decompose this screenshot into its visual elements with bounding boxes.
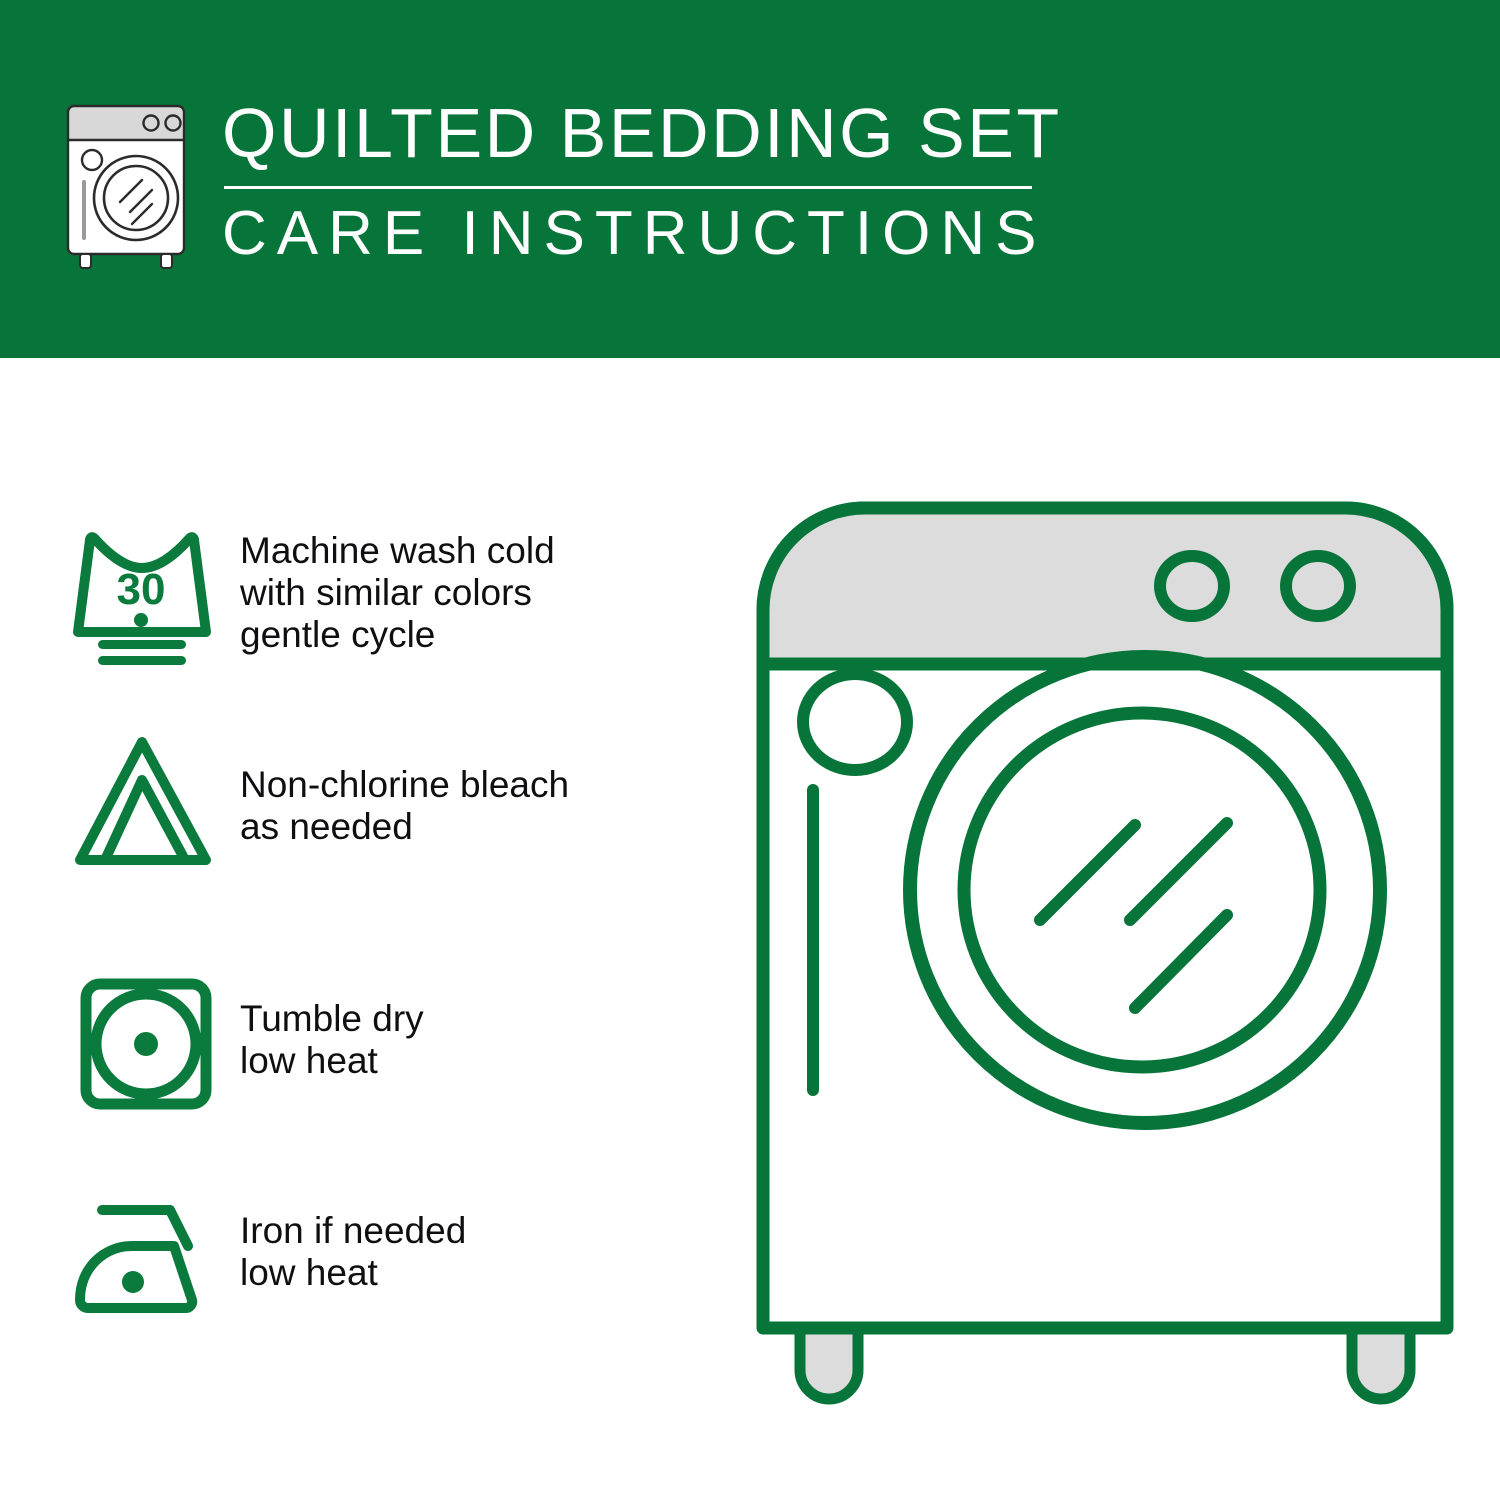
machine-wash-30-icon: 30 [70, 522, 240, 672]
care-text-line: Non-chlorine bleach [240, 764, 730, 806]
page-title: QUILTED BEDDING SET [222, 94, 1062, 172]
care-item-bleach: Non-chlorine bleach as needed [70, 732, 730, 882]
header-content: QUILTED BEDDING SET CARE INSTRUCTIONS [60, 92, 1062, 273]
care-text-line: low heat [240, 1252, 730, 1294]
care-text-line: gentle cycle [240, 614, 730, 656]
header-banner: QUILTED BEDDING SET CARE INSTRUCTIONS [0, 0, 1500, 358]
wash-temperature-label: 30 [117, 565, 166, 614]
care-text-line: Iron if needed [240, 1210, 730, 1252]
care-text-line: Machine wash cold [240, 530, 730, 572]
care-item-machine-wash-text: Machine wash cold with similar colors ge… [240, 522, 730, 656]
care-item-iron-text: Iron if needed low heat [240, 1196, 730, 1294]
care-item-tumble-dry: Tumble dry low heat [70, 970, 730, 1120]
care-item-machine-wash: 30 Machine wash cold with similar colors… [70, 522, 730, 672]
care-item-bleach-text: Non-chlorine bleach as needed [240, 732, 730, 848]
washing-machine-logo-icon [60, 98, 200, 273]
title-divider [224, 186, 1032, 189]
care-text-line: as needed [240, 806, 730, 848]
front-load-washing-machine-illustration [745, 490, 1465, 1420]
care-text-line: low heat [240, 1040, 730, 1082]
tumble-dry-low-icon [70, 970, 240, 1120]
care-text-line: with similar colors [240, 572, 730, 614]
non-chlorine-bleach-icon [70, 732, 240, 882]
care-instructions-list: 30 Machine wash cold with similar colors… [0, 358, 730, 1500]
care-text-line: Tumble dry [240, 998, 730, 1040]
care-item-iron: Iron if needed low heat [70, 1196, 730, 1346]
page-subtitle: CARE INSTRUCTIONS [222, 199, 1062, 269]
header-title-group: QUILTED BEDDING SET CARE INSTRUCTIONS [222, 92, 1062, 269]
iron-low-heat-icon [70, 1196, 240, 1346]
care-item-tumble-dry-text: Tumble dry low heat [240, 970, 730, 1082]
